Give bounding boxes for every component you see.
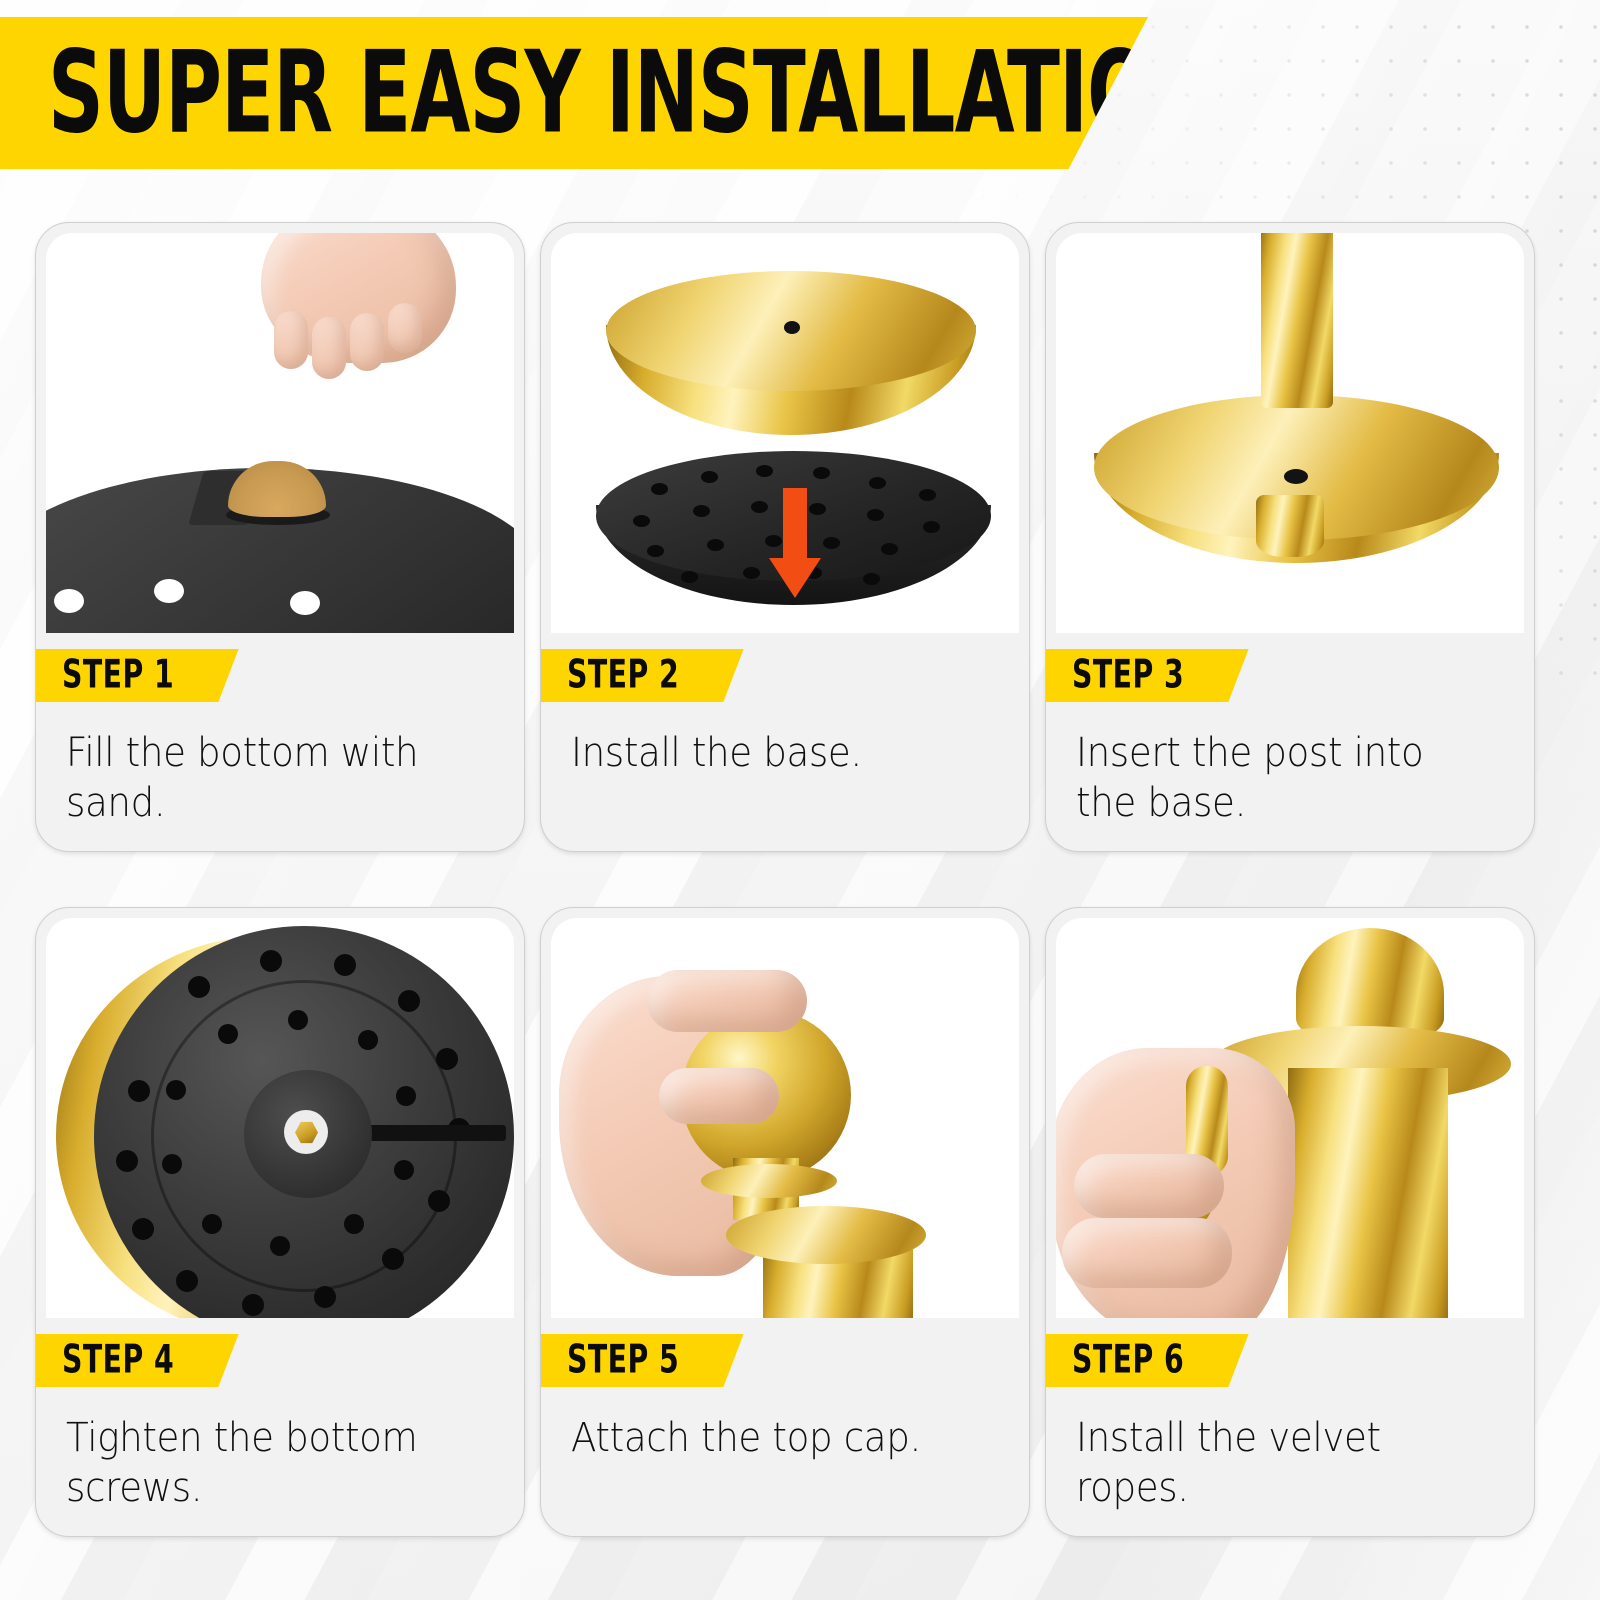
base-hole [436, 1048, 458, 1070]
thumb-shape [1062, 1218, 1232, 1288]
step-1-tag-label: STEP 1 [62, 656, 174, 695]
base-hole [132, 1218, 154, 1240]
base-pin-hole [1284, 469, 1308, 484]
step-4-tag: STEP 4 [36, 1334, 239, 1387]
step-2-photo [551, 233, 1019, 633]
base-hole [290, 591, 320, 615]
step-6-caption: Install the velvet ropes. [1076, 1413, 1476, 1514]
cover-center-hole [784, 321, 800, 334]
base-hole [396, 1086, 416, 1106]
drain-hole [919, 489, 936, 501]
finger-shape [659, 1068, 779, 1124]
step-2-caption-block: STEP 2 Install the base. [541, 633, 1029, 851]
base-hole [242, 1294, 264, 1316]
gold-post-front [1261, 233, 1333, 408]
step-2-tag: STEP 2 [541, 649, 744, 702]
post-flange-ring [726, 1206, 926, 1264]
step-card-5: STEP 5 Attach the top cap. [540, 907, 1030, 1537]
base-hole [260, 950, 282, 972]
base-hole [344, 1214, 364, 1234]
step-card-6: STEP 6 Install the velvet ropes. [1045, 907, 1535, 1537]
drain-hole [756, 465, 773, 477]
drain-hole [869, 477, 886, 489]
step-2-tag-label: STEP 2 [567, 656, 679, 695]
drain-hole [681, 571, 698, 583]
step-5-tag: STEP 5 [541, 1334, 744, 1387]
base-hole [218, 1024, 238, 1044]
down-arrow-icon [783, 488, 807, 566]
drain-hole [707, 539, 724, 551]
finger-shape [1074, 1154, 1224, 1218]
header-banner: SUPER EASY INSTALLATION [0, 17, 1148, 169]
base-hole [358, 1030, 378, 1050]
drain-hole [743, 567, 760, 579]
base-hole [334, 954, 356, 976]
base-hole [166, 1080, 186, 1100]
base-hole [382, 1248, 404, 1270]
finger-shape [312, 317, 346, 379]
base-hole [202, 1214, 222, 1234]
drain-hole [651, 483, 668, 495]
drain-hole [881, 543, 898, 555]
step-6-caption-block: STEP 6 Install the velvet ropes. [1046, 1318, 1534, 1536]
base-hole [288, 1010, 308, 1030]
step-4-photo [46, 918, 514, 1318]
base-hole [176, 1270, 198, 1292]
step-6-tag: STEP 6 [1046, 1334, 1249, 1387]
step-1-caption: Fill the bottom with sand. [66, 728, 466, 829]
step-5-caption-block: STEP 5 Attach the top cap. [541, 1318, 1029, 1536]
drain-hole [751, 501, 768, 513]
page-title: SUPER EASY INSTALLATION [48, 36, 1216, 150]
base-hole [314, 1286, 336, 1308]
base-hole [116, 1150, 138, 1172]
step-card-2: STEP 2 Install the base. [540, 222, 1030, 852]
drain-hole [923, 521, 940, 533]
step-card-3: STEP 3 Insert the post into the base. [1045, 222, 1535, 852]
drain-hole [867, 509, 884, 521]
step-3-tag: STEP 3 [1046, 649, 1249, 702]
base-hole [428, 1190, 450, 1212]
drain-hole [701, 471, 718, 483]
step-5-photo [551, 918, 1019, 1318]
finger-shape [388, 303, 422, 353]
step-4-caption: Tighten the bottom screws. [66, 1413, 466, 1514]
base-hole [54, 589, 84, 613]
step-1-caption-block: STEP 1 Fill the bottom with sand. [36, 633, 524, 851]
cap-collar-ring [701, 1164, 837, 1198]
step-3-caption: Insert the post into the base. [1076, 728, 1476, 829]
step-2-caption: Install the base. [571, 728, 971, 778]
installation-steps-grid: STEP 1 Fill the bottom with sand. [35, 222, 1535, 1537]
base-hole [270, 1236, 290, 1256]
base-rope-stub [1256, 495, 1324, 557]
step-4-tag-label: STEP 4 [62, 1341, 174, 1380]
base-hole [162, 1154, 182, 1174]
finger-shape [647, 970, 807, 1032]
step-1-photo [46, 233, 514, 633]
base-hole [398, 990, 420, 1012]
drain-hole [765, 535, 782, 547]
step-card-1: STEP 1 Fill the bottom with sand. [35, 222, 525, 852]
gold-post-tube [1288, 1068, 1448, 1318]
step-4-caption-block: STEP 4 Tighten the bottom screws. [36, 1318, 524, 1536]
step-3-photo [1056, 233, 1524, 633]
step-card-4: STEP 4 Tighten the bottom screws. [35, 907, 525, 1537]
drain-hole [823, 537, 840, 549]
base-hole [154, 579, 184, 603]
base-hole [188, 976, 210, 998]
drain-hole [863, 573, 880, 585]
base-hole [394, 1160, 414, 1180]
step-6-photo [1056, 918, 1524, 1318]
drain-hole [647, 545, 664, 557]
step-6-tag-label: STEP 6 [1072, 1341, 1184, 1380]
finger-shape [350, 313, 384, 371]
step-5-caption: Attach the top cap. [571, 1413, 971, 1463]
step-3-tag-label: STEP 3 [1072, 656, 1184, 695]
base-hole [128, 1080, 150, 1102]
drain-hole [813, 467, 830, 479]
drain-hole [693, 505, 710, 517]
step-1-tag: STEP 1 [36, 649, 239, 702]
down-arrow-head-icon [769, 558, 821, 598]
step-3-caption-block: STEP 3 Insert the post into the base. [1046, 633, 1534, 851]
drain-hole [809, 503, 826, 515]
step-5-tag-label: STEP 5 [567, 1341, 679, 1380]
drain-hole [633, 515, 650, 527]
gold-bell-collar [1296, 928, 1444, 1038]
finger-shape [274, 311, 308, 369]
